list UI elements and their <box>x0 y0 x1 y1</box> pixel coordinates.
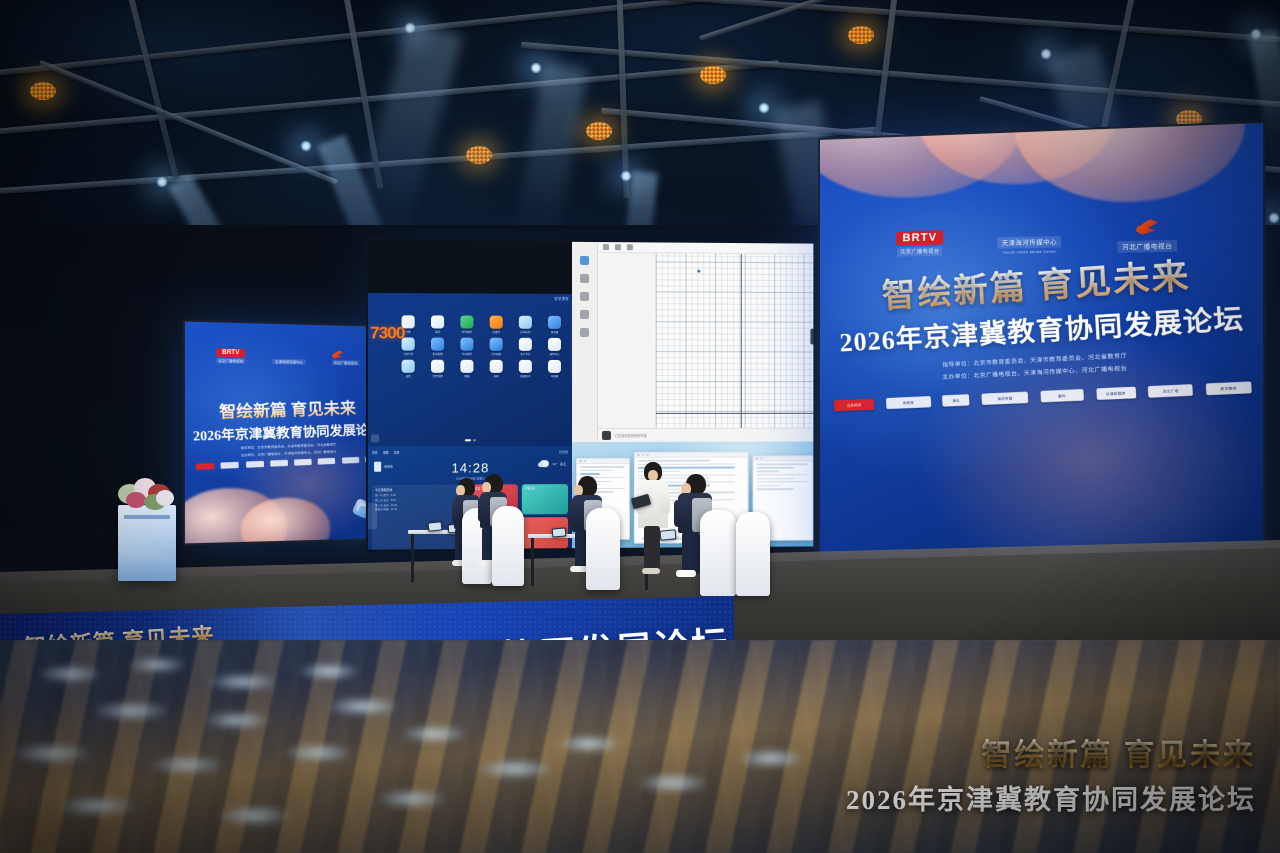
app-tile[interactable]: 希沃视频 <box>424 338 451 356</box>
sponsor-logo: 长城新媒体 <box>1096 386 1136 399</box>
window-titlebar[interactable] <box>635 453 748 458</box>
stage-scene: BRTV 北京广播电视台 天津海河传媒中心 河北广播电视台 智绘新篇 育见未来 … <box>0 0 1280 853</box>
ai-assistant-icon <box>548 360 561 373</box>
app-tile[interactable]: 设置 <box>394 360 421 378</box>
graph-x-axis <box>656 413 816 414</box>
weather-temp: 12° <box>552 462 557 466</box>
select-tool-icon[interactable] <box>580 256 589 265</box>
hebei-radio-tv-icon <box>332 350 344 359</box>
dashboard-card-analytics[interactable]: 学情分析 <box>522 484 568 514</box>
whiteboard-icon <box>402 315 415 328</box>
dashboard-tab[interactable]: 首页 <box>372 450 378 454</box>
tablet <box>428 521 443 531</box>
group-discuss-icon <box>402 337 415 350</box>
chair <box>736 512 770 596</box>
tianjin-haihe-media-logo-group: 天津海河传媒中心 Tianjin Haihe Media Center <box>998 236 1062 255</box>
launcher-corner-tag: 智慧课堂 <box>554 296 569 301</box>
more-icon[interactable] <box>627 244 633 250</box>
app-tile[interactable]: 几何画板 <box>483 338 510 356</box>
brtv-logo-sub: 北京广播电视台 <box>216 358 246 364</box>
app-tile[interactable]: 智慧课堂 <box>453 315 480 333</box>
overlay-title-line1: 智绘新篇 育见未来 <box>846 730 1256 774</box>
launcher-home-button[interactable] <box>371 434 379 442</box>
app-tile[interactable]: 电子书包 <box>512 338 539 356</box>
interactive-class-icon <box>460 338 473 351</box>
app-tile[interactable]: 云课堂 <box>483 316 510 334</box>
app-tile[interactable]: 互动课堂 <box>453 338 480 356</box>
file-manager-icon <box>431 360 444 373</box>
overlay-title: 智绘新篇 育见未来 2026年京津冀教育协同发展论坛 <box>846 730 1256 817</box>
par-light <box>466 146 492 164</box>
app-tile[interactable]: 文件管理 <box>424 360 451 378</box>
app-tile[interactable]: 录屏 <box>483 360 510 378</box>
dashboard-weather: 12° 多云 <box>540 460 566 467</box>
add-icon[interactable] <box>615 244 621 250</box>
app-tile[interactable]: 备课助手 <box>512 360 539 378</box>
chair <box>492 506 524 586</box>
par-light <box>30 82 56 100</box>
tianjin-haihe-media-logo: 天津海河传媒中心 <box>998 236 1062 249</box>
pen-tool-icon[interactable] <box>580 274 589 283</box>
dashboard-topbar[interactable]: 首页 课程 资源 智慧屏 <box>372 448 568 456</box>
app-tile[interactable]: 课件中心 <box>541 338 568 356</box>
graph-tool-button[interactable] <box>602 431 611 440</box>
sponsor-logo: 津云 <box>942 394 970 406</box>
panel-graphing-app[interactable]: 已连接到智慧教室终端 <box>572 242 815 442</box>
gallery-icon <box>460 360 473 373</box>
par-light <box>700 66 726 84</box>
hebei-radio-tv-icon <box>1135 218 1159 235</box>
app-tile[interactable]: 投屏 <box>424 315 451 333</box>
graph-status-text: 已连接到智慧教室终端 <box>615 433 647 438</box>
window-titlebar[interactable] <box>754 456 813 461</box>
cast-icon <box>431 315 444 328</box>
launcher-page-dots[interactable] <box>465 439 476 441</box>
chair <box>586 508 620 590</box>
shape-tool-icon[interactable] <box>580 292 589 301</box>
graph-toolbar-top[interactable] <box>598 242 815 254</box>
text-tool-icon[interactable] <box>580 310 589 319</box>
hebei-radio-tv-logo-group: 河北广播电视台 <box>1118 218 1177 253</box>
graph-plot-area[interactable] <box>656 253 816 441</box>
left-led-screen: BRTV 北京广播电视台 天津海河传媒中心 河北广播电视台 智绘新篇 育见未来 … <box>183 319 390 545</box>
weather-desc: 多云 <box>560 462 566 466</box>
video-icon <box>431 338 444 351</box>
sponsor-logo: 数字教育 <box>1206 381 1252 395</box>
main-led-screen: BRTV 北京广播电视台 天津海河传媒中心 Tianjin Haihe Medi… <box>818 121 1265 596</box>
layer-tool-icon[interactable] <box>580 328 589 337</box>
geometry-board-icon <box>490 338 503 351</box>
tianjin-haihe-media-logo: 天津海河传媒中心 <box>273 359 305 365</box>
graph-tool-rail[interactable] <box>572 242 598 442</box>
dashboard-tab[interactable]: 资源 <box>394 450 400 454</box>
graph-side-drawer-handle[interactable] <box>810 329 815 345</box>
settings-gear-icon <box>402 360 415 373</box>
overlay-title-line2: 2026年京津冀教育协同发展论坛 <box>846 778 1256 817</box>
courseware-center-icon <box>548 338 561 351</box>
left-screen-sponsor-row <box>196 456 383 473</box>
sponsor-logo: 北京时间 <box>834 398 875 411</box>
floral-arrangement <box>112 472 182 516</box>
brtv-logo-sub: 北京广播电视台 <box>897 247 943 257</box>
lectern <box>118 505 176 581</box>
card-label: 学情分析 <box>525 486 535 490</box>
screen-record-icon <box>490 360 503 373</box>
browser-icon <box>548 316 561 329</box>
sponsor-logo: 河北广电 <box>1148 384 1193 398</box>
brtv-logo: BRTV <box>216 348 246 357</box>
schedule-title: 今日课程安排 <box>375 488 392 492</box>
app-grid[interactable]: 白板 投屏 智慧课堂 云课堂 应用市场 浏览器 小组讨论 希沃视频 互动课堂 几… <box>394 315 568 378</box>
brtv-logo-group: BRTV 北京广播电视台 <box>896 230 943 256</box>
app-tile[interactable]: 浏览器 <box>541 316 568 334</box>
app-tile[interactable]: 相册 <box>453 360 480 378</box>
hebei-radio-tv-logo: 河北广播电视台 <box>332 360 360 366</box>
dashboard-tab[interactable]: 课程 <box>383 450 389 454</box>
teacher <box>636 462 676 588</box>
ebook-bag-icon <box>519 338 532 351</box>
app-tile[interactable]: 小组讨论 <box>394 337 421 355</box>
app-tile[interactable]: 应用市场 <box>512 316 539 334</box>
chair <box>700 510 736 596</box>
panel-app-launcher[interactable]: 智慧课堂 7300 白板 投屏 智慧课堂 云课堂 应用市场 浏览器 小组讨论 希… <box>368 293 572 447</box>
dashboard-power-button[interactable] <box>368 503 377 529</box>
left-screen-title: 智绘新篇 育见未来 2026年京津冀教育协同发展论坛 <box>184 394 389 445</box>
smart-class-icon <box>460 316 473 329</box>
par-light <box>848 26 874 44</box>
graph-status-bar: 已连接到智慧教室终端 <box>598 428 815 442</box>
left-screen-logos: BRTV 北京广播电视台 天津海河传媒中心 河北广播电视台 <box>185 347 388 366</box>
app-store-icon <box>519 316 532 329</box>
window-titlebar[interactable] <box>577 459 629 464</box>
sponsor-logo: 海河传媒 <box>981 391 1028 404</box>
dashboard-corner-tag: 智慧屏 <box>559 450 568 454</box>
list-item[interactable]: 第四节 物理 · 11:00 <box>375 508 462 513</box>
app-tile[interactable]: 白板 <box>394 315 421 333</box>
app-tile[interactable]: AI助教 <box>541 360 568 378</box>
sponsor-logo: 冀时 <box>1040 389 1084 402</box>
par-light <box>586 122 612 140</box>
lesson-prep-icon <box>519 360 532 373</box>
tablet <box>552 527 567 537</box>
brtv-logo: BRTV <box>896 230 943 245</box>
cloud-class-icon <box>490 316 503 329</box>
menu-icon[interactable] <box>603 244 609 250</box>
sponsor-logo: 央视频 <box>886 395 931 408</box>
cloud-icon <box>540 460 549 467</box>
